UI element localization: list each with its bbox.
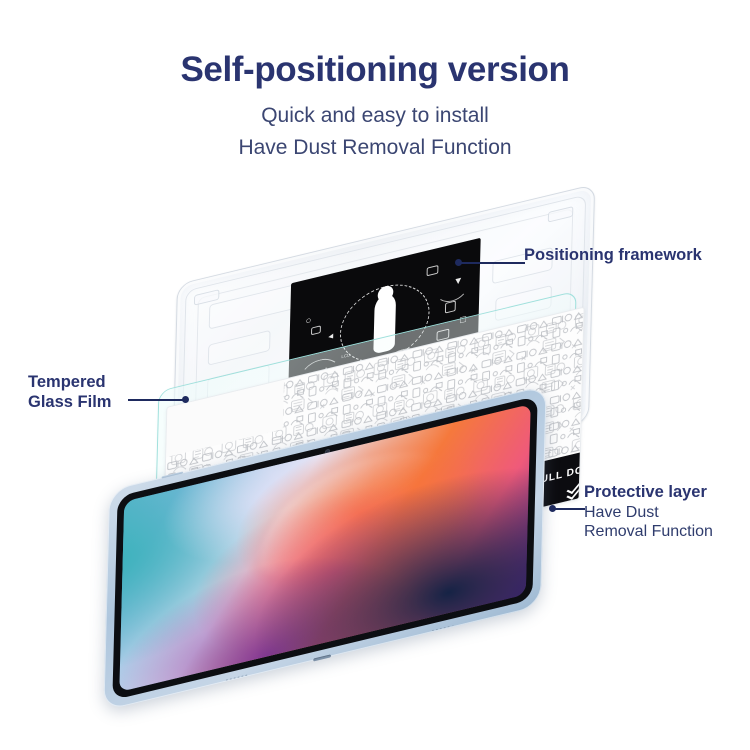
leader-line xyxy=(459,262,525,264)
callout-sub-line-2: Removal Function xyxy=(584,522,713,542)
callout-tempered-glass: Tempered Glass Film xyxy=(28,372,111,412)
callout-sub-line-1: Have Dust xyxy=(584,503,713,523)
square-icon xyxy=(311,325,321,335)
spray-icon: ◂ xyxy=(328,332,333,343)
leader-line xyxy=(555,508,585,510)
subtitle-line-2: Have Dust Removal Function xyxy=(0,133,750,163)
square-icon xyxy=(445,300,456,313)
page-title: Self-positioning version xyxy=(0,52,750,89)
subtitle-line-1: Quick and easy to install xyxy=(0,101,750,131)
callout-title: Positioning framework xyxy=(524,246,702,266)
callout-title-line-1: Tempered xyxy=(28,372,111,392)
callout-positioning-framework: Positioning framework xyxy=(524,246,702,266)
square-icon xyxy=(427,265,439,276)
callout-title: Protective layer xyxy=(584,483,713,503)
callout-title-line-2: Glass Film xyxy=(28,392,111,412)
product-infographic: Self-positioning version Quick and easy … xyxy=(0,0,750,750)
drop-icon: ○ xyxy=(305,316,311,327)
callout-protective-layer: Protective layer Have Dust Removal Funct… xyxy=(584,483,713,542)
leader-line xyxy=(128,399,184,401)
subtitle-block: Quick and easy to install Have Dust Remo… xyxy=(0,101,750,163)
header-block: Self-positioning version Quick and easy … xyxy=(0,52,750,162)
